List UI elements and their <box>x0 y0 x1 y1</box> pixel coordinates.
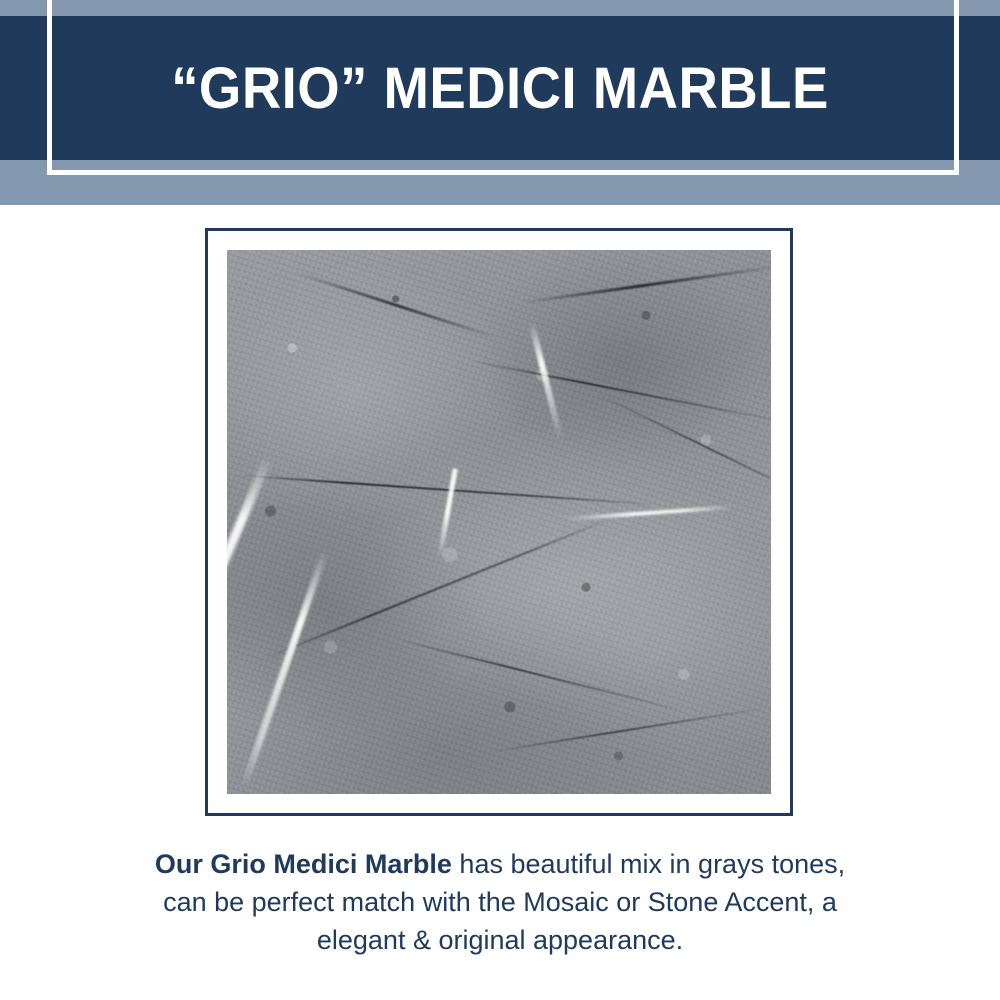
marble-vein-white <box>241 549 329 788</box>
marble-vein-dark <box>394 638 686 713</box>
marble-vein-white <box>437 468 458 558</box>
description-line-3: elegant & original appearance. <box>0 921 1000 959</box>
marble-vein-dark <box>598 393 771 500</box>
marble-vein-dark <box>490 707 767 753</box>
marble-vein-white <box>564 505 734 521</box>
product-description: Our Grio Medici Marble has beautiful mix… <box>0 845 1000 959</box>
page-title: “GRIO” MEDICI MARBLE <box>30 16 970 160</box>
description-line-2: can be perfect match with the Mosaic or … <box>0 883 1000 921</box>
header-banner: “GRIO” MEDICI MARBLE <box>0 0 1000 205</box>
marble-vein-dark <box>262 516 615 660</box>
marble-vein-dark <box>297 272 498 340</box>
marble-vein-white <box>227 456 273 736</box>
marble-texture-image <box>227 250 771 794</box>
description-line-1-rest: has beautiful mix in grays tones, <box>452 849 845 879</box>
description-line-1: Our Grio Medici Marble has beautiful mix… <box>0 845 1000 883</box>
description-lead: Our Grio Medici Marble <box>155 849 452 879</box>
stone-sample-frame <box>205 228 793 816</box>
header-band-top <box>0 0 1000 16</box>
marble-vein-white <box>528 322 563 440</box>
marble-vein-dark <box>522 265 771 304</box>
product-slide: “GRIO” MEDICI MARBLE Our Grio Medici Mar… <box>0 0 1000 1000</box>
marble-vein-dark <box>469 360 771 425</box>
header-band-bottom <box>0 160 1000 205</box>
marble-vein-dark <box>238 475 657 506</box>
